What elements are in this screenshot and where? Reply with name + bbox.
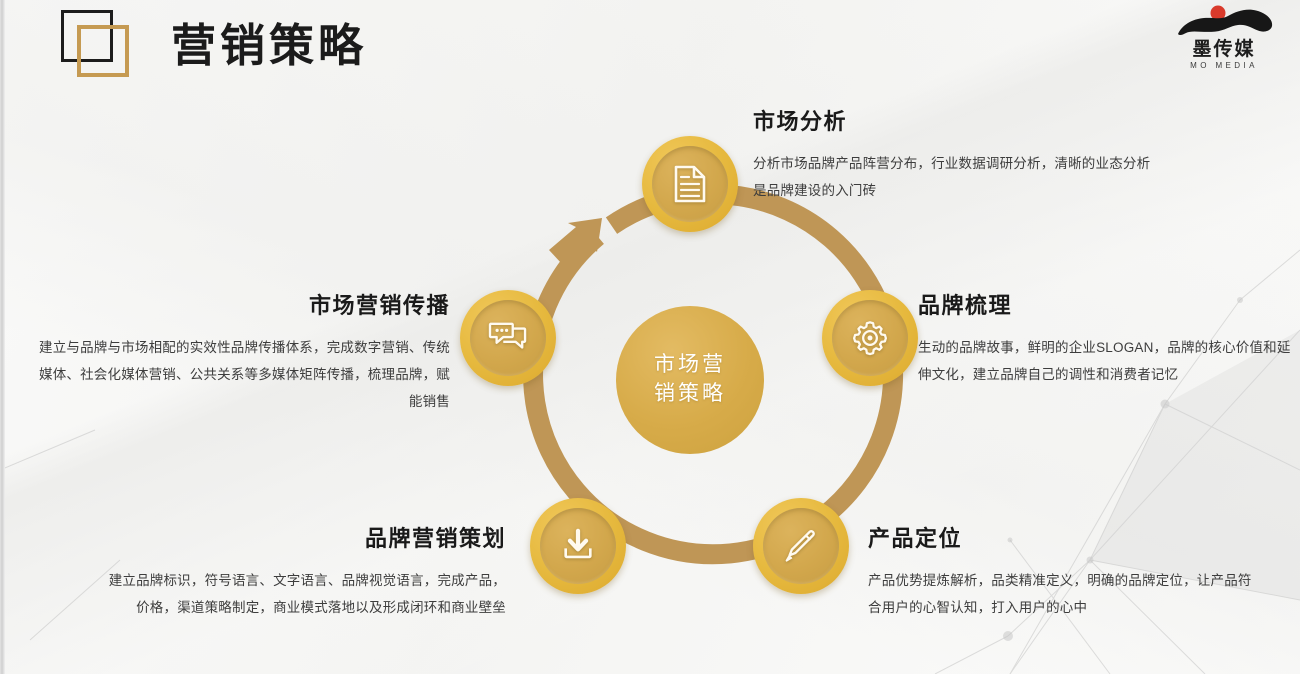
cycle-hub-label: 市场营 销策略 (654, 351, 726, 409)
section-marketing-communication-body: 建立与品牌与市场相配的实效性品牌传播体系，完成数字营销、传统媒体、社会化媒体营销… (26, 334, 450, 415)
section-market-analysis-title: 市场分析 (753, 104, 1153, 136)
cycle-node-product[interactable] (753, 498, 849, 594)
cycle-node-brand[interactable] (822, 290, 918, 386)
cycle-node-market-inner (652, 146, 728, 222)
section-marketing-communication: 市场营销传播 建立与品牌与市场相配的实效性品牌传播体系，完成数字营销、传统媒体、… (26, 288, 450, 415)
slide-canvas: 营销策略 墨传媒 MO MEDIA 市场营 销策略 (0, 0, 1300, 674)
overlapping-squares-logo-icon (55, 8, 135, 82)
cycle-node-comms[interactable] (460, 290, 556, 386)
chat-icon (488, 320, 528, 356)
pencil-icon (782, 527, 820, 565)
section-product-positioning: 产品定位 产品优势提炼解析，品类精准定义，明确的品牌定位，让产品符合用户的心智认… (868, 521, 1258, 621)
section-brand-review-title: 品牌梳理 (918, 288, 1296, 320)
page-title: 营销策略 (171, 23, 367, 68)
cycle-hub: 市场营 销策略 (616, 306, 764, 454)
cycle-node-planning[interactable] (530, 498, 626, 594)
section-product-positioning-title: 产品定位 (868, 521, 1258, 553)
section-brand-review: 品牌梳理 生动的品牌故事，鲜明的企业SLOGAN，品牌的核心价值和延伸文化，建立… (918, 288, 1296, 388)
section-brand-marketing-planning: 品牌营销策划 建立品牌标识，符号语言、文字语言、品牌视觉语言，完成产品，价格，渠… (96, 521, 506, 621)
corporate-logo-name-cn: 墨传媒 (1168, 40, 1280, 60)
ink-brush-stroke-icon (1168, 4, 1280, 40)
section-brand-marketing-planning-title: 品牌营销策划 (96, 521, 506, 553)
section-marketing-communication-title: 市场营销传播 (26, 288, 450, 320)
gear-icon (851, 319, 889, 357)
download-icon (559, 528, 597, 564)
section-market-analysis-body: 分析市场品牌产品阵营分布，行业数据调研分析，清晰的业态分析是品牌建设的入门砖 (753, 150, 1153, 204)
corporate-logo: 墨传媒 MO MEDIA (1168, 4, 1280, 70)
cycle-node-market[interactable] (642, 136, 738, 232)
slide-header: 营销策略 (55, 8, 367, 82)
section-brand-marketing-planning-body: 建立品牌标识，符号语言、文字语言、品牌视觉语言，完成产品，价格，渠道策略制定，商… (96, 567, 506, 621)
cycle-node-comms-inner (470, 300, 546, 376)
cycle-node-brand-inner (832, 300, 908, 376)
cycle-node-product-inner (763, 508, 839, 584)
document-icon (673, 165, 707, 203)
left-window-rail (0, 0, 5, 674)
cycle-node-planning-inner (540, 508, 616, 584)
section-product-positioning-body: 产品优势提炼解析，品类精准定义，明确的品牌定位，让产品符合用户的心智认知，打入用… (868, 567, 1258, 621)
section-market-analysis: 市场分析 分析市场品牌产品阵营分布，行业数据调研分析，清晰的业态分析是品牌建设的… (753, 104, 1153, 204)
section-brand-review-body: 生动的品牌故事，鲜明的企业SLOGAN，品牌的核心价值和延伸文化，建立品牌自己的… (918, 334, 1296, 388)
square-gold-shape (77, 25, 129, 77)
corporate-logo-name-en: MO MEDIA (1168, 61, 1280, 70)
cycle-diagram: 市场营 销策略 (450, 140, 930, 620)
